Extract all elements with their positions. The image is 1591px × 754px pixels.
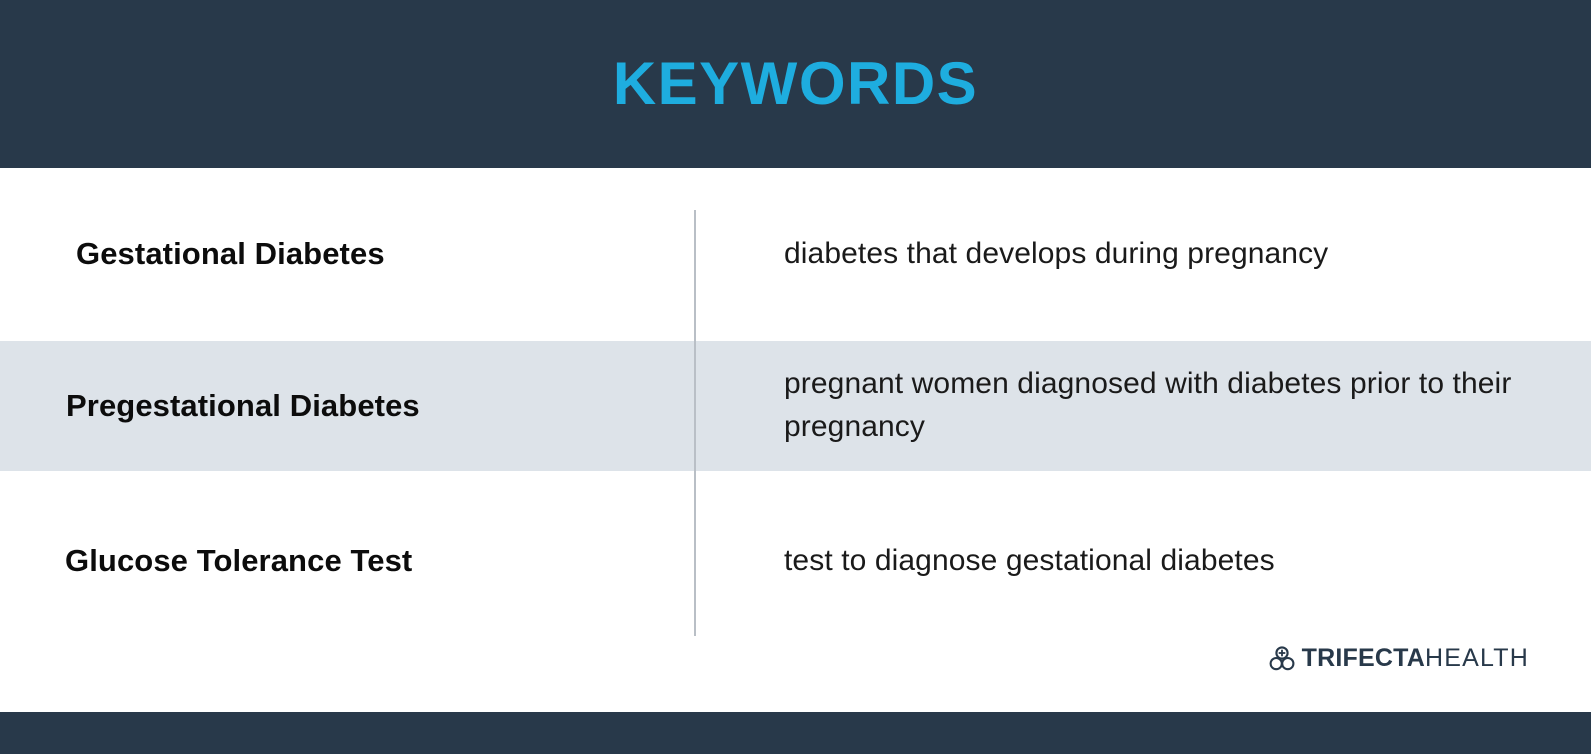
table-cell-term: Gestational Diabetes [0,235,694,274]
keyword-term: Glucose Tolerance Test [65,542,412,581]
table-cell-term: Glucose Tolerance Test [0,542,694,581]
table-cell-definition: diabetes that develops during pregnancy [694,233,1591,276]
footer-bar [0,712,1591,754]
table-row: Glucose Tolerance Test test to diagnose … [0,471,1591,651]
keyword-definition: pregnant women diagnosed with diabetes p… [784,363,1551,448]
table-cell-term: Pregestational Diabetes [0,387,694,426]
brand-logo: TRIFECTAHEALTH [1269,642,1529,674]
keywords-slide: KEYWORDS Gestational Diabetes diabetes t… [0,0,1591,754]
table-row: Gestational Diabetes diabetes that devel… [0,168,1591,341]
keyword-term: Gestational Diabetes [76,235,385,274]
trifecta-three-circles-plus-icon [1269,645,1295,671]
logo-wordmark: TRIFECTAHEALTH [1302,646,1529,671]
table-row: Pregestational Diabetes pregnant women d… [0,341,1591,471]
keyword-definition: test to diagnose gestational diabetes [784,540,1275,583]
table-cell-definition: pregnant women diagnosed with diabetes p… [694,363,1591,448]
logo-name-primary: TRIFECTA [1302,646,1425,671]
logo-name-secondary: HEALTH [1425,646,1529,671]
keyword-definition: diabetes that develops during pregnancy [784,233,1328,276]
header-bar: KEYWORDS [0,0,1591,168]
keyword-term: Pregestational Diabetes [66,387,420,426]
column-divider [694,210,696,636]
page-title: KEYWORDS [613,54,978,114]
table-cell-definition: test to diagnose gestational diabetes [694,540,1591,583]
keywords-table: Gestational Diabetes diabetes that devel… [0,168,1591,712]
